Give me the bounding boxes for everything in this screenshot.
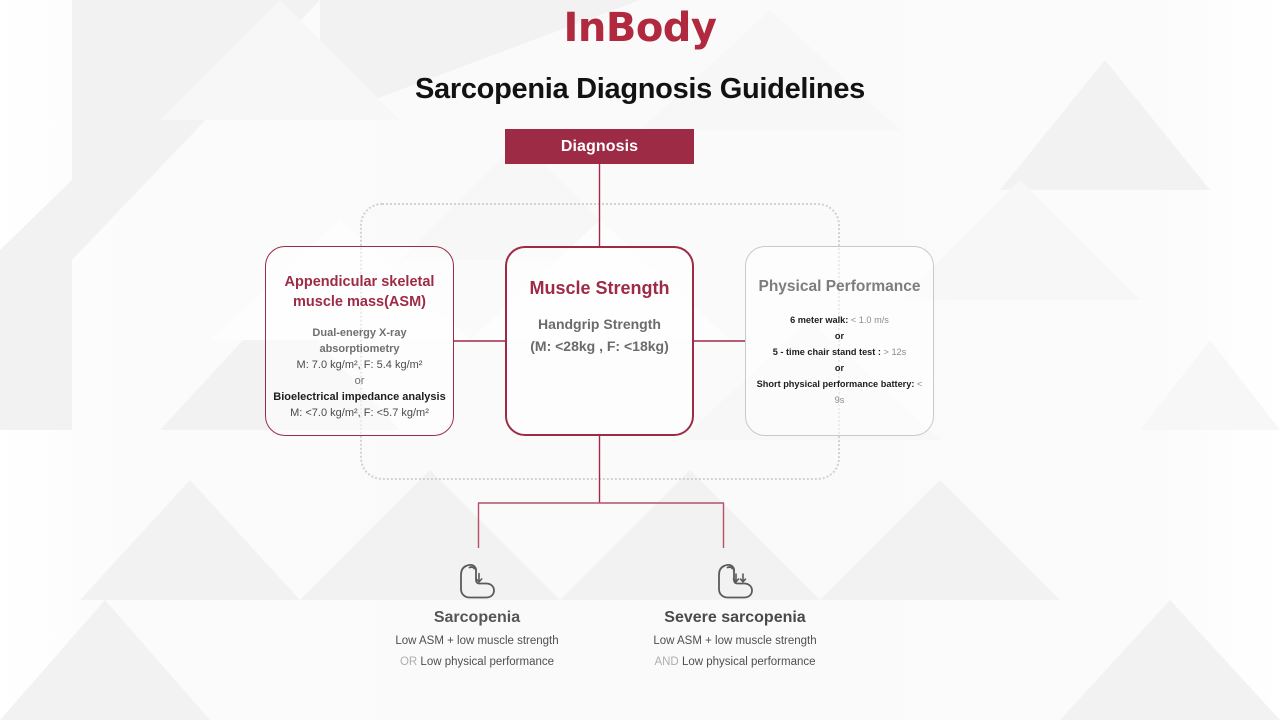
outcome-severe-sarcopenia[interactable]: Severe sarcopenia Low ASM + low muscle s… [605, 560, 865, 672]
inbody-logo: InBody [0, 8, 1280, 48]
outcome-criteria-sarcopenia-line2: OR Low physical performance [347, 654, 607, 672]
outcome-criteria-sarcopenia-line2-text: Low physical performance [420, 656, 554, 668]
outcome-criteria-severe-line1: Low ASM + low muscle strength [605, 633, 865, 651]
criteria-box-physical-performance[interactable]: Physical Performance 6 meter walk: < 1.0… [745, 246, 934, 436]
asm-cutoff-bia: M: <7.0 kg/m², F: <5.7 kg/m² [272, 406, 447, 422]
flexed-bicep-double-down-arrow-icon [605, 560, 865, 604]
perf-test-walk-label: 6 meter walk: [790, 315, 848, 325]
outcome-conjunction-sarcopenia: OR [400, 656, 417, 668]
criteria-body-asm: Dual-energy X-ray absorptiometry M: 7.0 … [272, 326, 447, 422]
asm-cutoff-dxa: M: 7.0 kg/m², F: 5.4 kg/m² [272, 358, 447, 374]
outcome-conjunction-severe: AND [654, 656, 678, 668]
outcome-criteria-sarcopenia-line1: Low ASM + low muscle strength [347, 633, 607, 651]
strength-method: Handgrip Strength [513, 314, 686, 336]
asm-conjunction-or: or [272, 374, 447, 390]
perf-test-walk: 6 meter walk: < 1.0 m/s [752, 312, 927, 328]
perf-conjunction-or-1: or [752, 328, 927, 344]
criteria-title-physical-performance: Physical Performance [756, 277, 923, 298]
perf-test-chair-stand-label: 5 - time chair stand test : [773, 347, 881, 357]
diagram-canvas: InBody Sarcopenia Diagnosis Guidelines D… [0, 0, 1280, 720]
perf-test-sppb: Short physical performance battery: < 9s [752, 376, 927, 408]
page-title: Sarcopenia Diagnosis Guidelines [0, 74, 1280, 106]
outcome-title-severe-sarcopenia: Severe sarcopenia [605, 609, 865, 627]
flexed-bicep-single-down-arrow-icon [347, 560, 607, 604]
asm-method-dxa: Dual-energy X-ray absorptiometry [272, 326, 447, 358]
criteria-body-physical-performance: 6 meter walk: < 1.0 m/s or 5 - time chai… [752, 312, 927, 409]
perf-test-sppb-label: Short physical performance battery: [757, 379, 915, 389]
perf-test-walk-value: < 1.0 m/s [848, 315, 889, 325]
criteria-body-muscle-strength: Handgrip Strength (M: <28kg , F: <18kg) [513, 314, 686, 357]
asm-method-bia: Bioelectrical impedance analysis [272, 390, 447, 406]
outcome-criteria-severe-line2: AND Low physical performance [605, 654, 865, 672]
criteria-title-asm-line2: muscle mass(ASM) [293, 294, 426, 310]
criteria-box-asm[interactable]: Appendicular skeletal muscle mass(ASM) D… [265, 246, 454, 436]
diagnosis-banner: Diagnosis [505, 129, 694, 164]
perf-conjunction-or-2: or [752, 360, 927, 376]
perf-test-chair-stand: 5 - time chair stand test : > 12s [752, 344, 927, 360]
perf-test-chair-stand-value: > 12s [881, 347, 906, 357]
outcome-criteria-severe-line2-text: Low physical performance [682, 656, 816, 668]
criteria-title-muscle-strength: Muscle Strength [517, 276, 682, 300]
diagnosis-banner-label: Diagnosis [561, 138, 638, 156]
criteria-title-asm: Appendicular skeletal muscle mass(ASM) [276, 273, 443, 312]
criteria-title-asm-line1: Appendicular skeletal [285, 274, 435, 290]
outcome-sarcopenia[interactable]: Sarcopenia Low ASM + low muscle strength… [347, 560, 607, 672]
outcome-title-sarcopenia: Sarcopenia [347, 609, 607, 627]
strength-cutoff: (M: <28kg , F: <18kg) [513, 336, 686, 358]
criteria-box-muscle-strength[interactable]: Muscle Strength Handgrip Strength (M: <2… [505, 246, 694, 436]
